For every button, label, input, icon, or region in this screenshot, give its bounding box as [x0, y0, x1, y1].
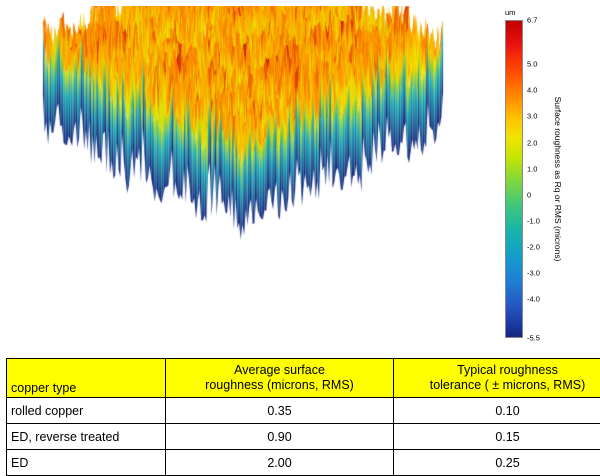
roughness-figure: um 6.75.04.03.02.01.00-1.0-2.0-3.0-4.0-5…	[0, 0, 600, 475]
colorbar-tick: 6.7	[527, 16, 537, 25]
table-header-copper-type: copper type	[7, 359, 166, 398]
table-cell-average: 0.35	[166, 398, 394, 424]
colorbar-tick: 3.0	[527, 112, 537, 121]
table-header-row: copper type Average surface roughness (m…	[7, 359, 600, 398]
surface-plot-canvas	[8, 6, 478, 346]
colorbar-tick: -3.0	[527, 268, 540, 277]
roughness-table: copper type Average surface roughness (m…	[6, 358, 600, 476]
table-header-copper-type-line1: copper type	[11, 381, 76, 395]
table-cell-type: ED, reverse treated	[7, 424, 166, 450]
colorbar-tick: 0	[527, 190, 531, 199]
surface-plot-frame	[8, 6, 478, 346]
table-header-average-roughness-line1: Average surface	[234, 363, 325, 377]
colorbar-tick: -5.5	[527, 334, 540, 343]
colorbar-tick: 1.0	[527, 164, 537, 173]
table-cell-average: 0.90	[166, 424, 394, 450]
colorbar-tick: 5.0	[527, 60, 537, 69]
table-header-average-roughness-line2: roughness (microns, RMS)	[205, 378, 354, 392]
table-cell-type: rolled copper	[7, 398, 166, 424]
colorbar: um 6.75.04.03.02.01.00-1.0-2.0-3.0-4.0-5…	[505, 8, 597, 346]
colorbar-axis-title: Surface roughness as Rq or RMS (microns)	[547, 20, 565, 338]
table-header-tolerance-line2: tolerance ( ± microns, RMS)	[430, 378, 586, 392]
table-cell-tolerance: 0.10	[394, 398, 600, 424]
table-cell-type: ED	[7, 450, 166, 476]
table-header-average-roughness: Average surface roughness (microns, RMS)	[166, 359, 394, 398]
roughness-table-wrap: copper type Average surface roughness (m…	[6, 358, 594, 476]
colorbar-tick: -1.0	[527, 216, 540, 225]
colorbar-tick: -2.0	[527, 242, 540, 251]
table-header-tolerance-line1: Typical roughness	[457, 363, 558, 377]
colorbar-gradient	[505, 20, 523, 338]
table-row: ED, reverse treated 0.90 0.15	[7, 424, 600, 450]
table-header-tolerance: Typical roughness tolerance ( ± microns,…	[394, 359, 600, 398]
table-cell-tolerance: 0.15	[394, 424, 600, 450]
colorbar-tick: -4.0	[527, 294, 540, 303]
table-cell-tolerance: 0.25	[394, 450, 600, 476]
table-cell-average: 2.00	[166, 450, 394, 476]
colorbar-tick: 2.0	[527, 138, 537, 147]
table-row: ED 2.00 0.25	[7, 450, 600, 476]
table-row: rolled copper 0.35 0.10	[7, 398, 600, 424]
colorbar-unit-label: um	[505, 8, 515, 17]
surface-plot-area: um 6.75.04.03.02.01.00-1.0-2.0-3.0-4.0-5…	[0, 0, 600, 352]
colorbar-tick: 4.0	[527, 86, 537, 95]
